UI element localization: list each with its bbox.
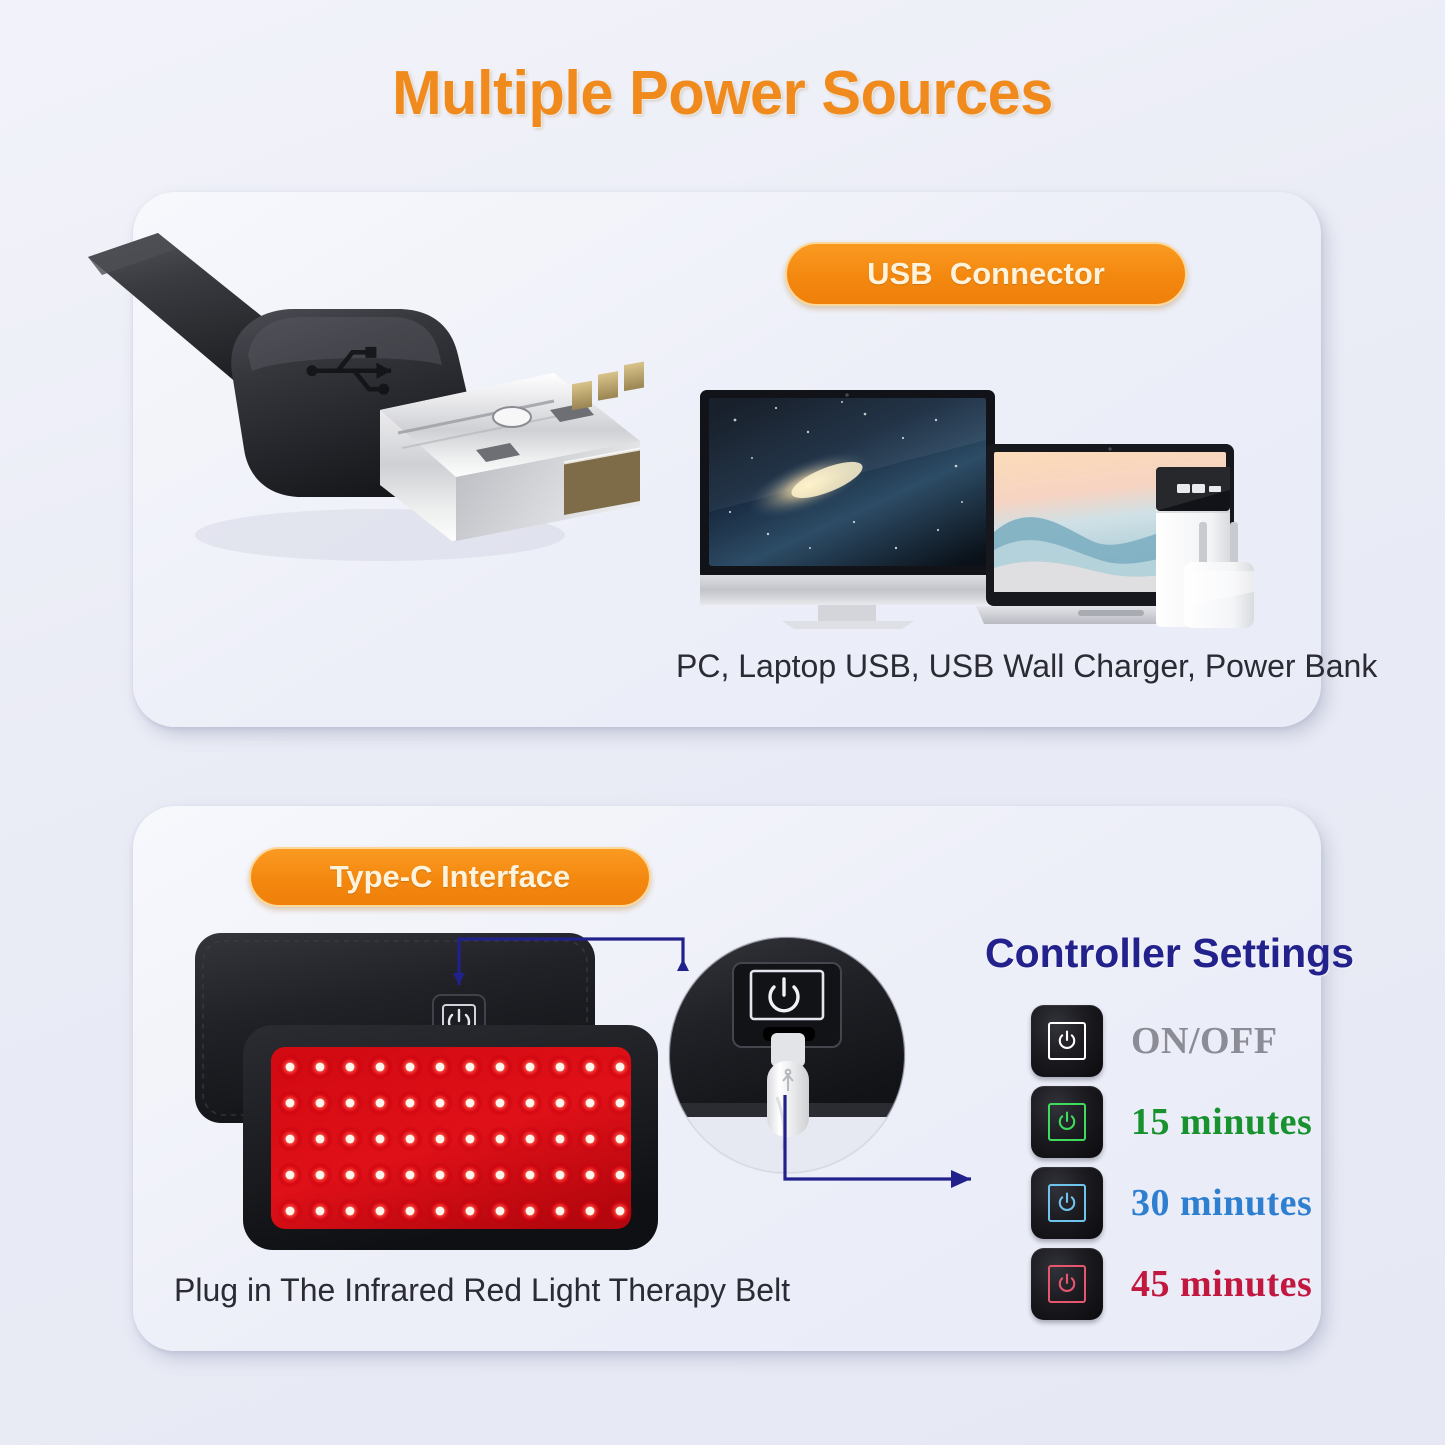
setting-label: ON/OFF [1131,1019,1278,1063]
setting-row[interactable]: 30 minutes [1031,1162,1341,1243]
belt-led-panel [243,1025,658,1250]
power-button-icon[interactable] [1031,1167,1103,1239]
therapy-belt-illustration [185,915,975,1260]
power-glyph [1048,1103,1086,1141]
setting-row[interactable]: 15 minutes [1031,1081,1341,1162]
type-c-badge: Type-C Interface [249,847,651,907]
usb-devices-caption: PC, Laptop USB, USB Wall Charger, Power … [676,648,1377,685]
page-title: Multiple Power Sources [29,58,1416,129]
power-button-icon[interactable] [1031,1086,1103,1158]
desktop-monitor-icon [700,390,995,629]
power-glyph [1048,1265,1086,1303]
power-button-icon[interactable] [1031,1005,1103,1077]
setting-row[interactable]: 45 minutes [1031,1243,1341,1324]
controller-settings-list: ON/OFF15 minutes30 minutes45 minutes [1031,1000,1341,1324]
setting-label: 15 minutes [1131,1100,1312,1144]
power-glyph [1048,1022,1086,1060]
therapy-belt-caption: Plug in The Infrared Red Light Therapy B… [174,1272,790,1309]
power-glyph [1048,1184,1086,1222]
type-c-port-closeup-icon [669,937,905,1191]
setting-label: 45 minutes [1131,1262,1312,1306]
compatible-devices-illustration [690,362,1270,632]
usb-a-plug-icon [80,205,650,605]
controller-settings-heading: Controller Settings [985,930,1354,977]
infographic-page: Multiple Power Sources [0,0,1445,1445]
setting-row[interactable]: ON/OFF [1031,1000,1341,1081]
usb-connector-badge: USB Connector [785,242,1187,306]
setting-label: 30 minutes [1131,1181,1312,1225]
power-button-icon[interactable] [1031,1248,1103,1320]
